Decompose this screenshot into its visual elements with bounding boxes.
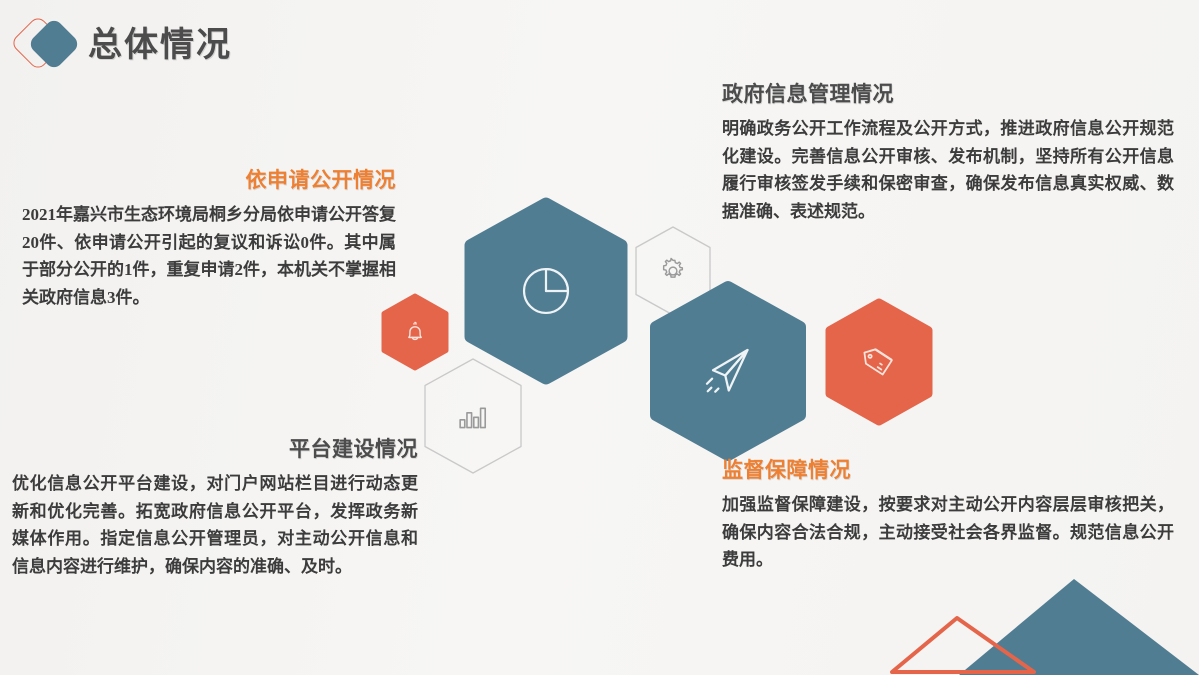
section-gov-info-management: 政府信息管理情况 明确政务公开工作流程及公开方式，推进政府信息公开规范化建设。完… (722, 82, 1174, 225)
gear-icon (658, 256, 688, 286)
bar-chart-icon (455, 398, 491, 434)
bell-icon (402, 319, 428, 345)
tag-icon (858, 341, 900, 383)
section-supervision-guarantee: 监督保障情况 加强监督保障建设，按要求对主动公开内容层层审核把关，确保内容合法合… (722, 458, 1174, 574)
hexagon-tag (823, 299, 935, 425)
pie-chart-icon (515, 260, 577, 322)
triangle-outline-icon (889, 615, 1037, 675)
paper-plane-icon (698, 341, 758, 401)
hexagon-paper-plane (650, 283, 806, 459)
section-title-supervision-guarantee: 监督保障情况 (722, 458, 1174, 484)
section-body-supervision-guarantee: 加强监督保障建设，按要求对主动公开内容层层审核把关，确保内容合法合规，主动接受社… (722, 491, 1174, 574)
section-body-platform-construction: 优化信息公开平台建设，对门户网站栏目进行动态更新和优化完善。拓宽政府信息公开平台… (12, 470, 418, 580)
hexagon-bar-chart (418, 355, 528, 477)
page-title: 总体情况 (88, 17, 232, 66)
diamond-logo-icon (16, 16, 90, 76)
section-body-gov-info-management: 明确政务公开工作流程及公开方式，推进政府信息公开规范化建设。完善信息公开审核、发… (722, 115, 1174, 225)
slide-canvas: 总体情况 (0, 0, 1199, 675)
section-apply-disclosure: 依申请公开情况 2021年嘉兴市生态环境局桐乡分局依申请公开答复20件、依申请公… (22, 168, 396, 311)
slide-header: 总体情况 (0, 0, 1199, 86)
section-title-apply-disclosure: 依申请公开情况 (22, 168, 396, 194)
section-title-gov-info-management: 政府信息管理情况 (722, 82, 1174, 108)
section-title-platform-construction: 平台建设情况 (12, 437, 418, 463)
section-platform-construction: 平台建设情况 优化信息公开平台建设，对门户网站栏目进行动态更新和优化完善。拓宽政… (12, 437, 418, 580)
section-body-apply-disclosure: 2021年嘉兴市生态环境局桐乡分局依申请公开答复20件、依申请公开引起的复议和诉… (22, 201, 396, 311)
